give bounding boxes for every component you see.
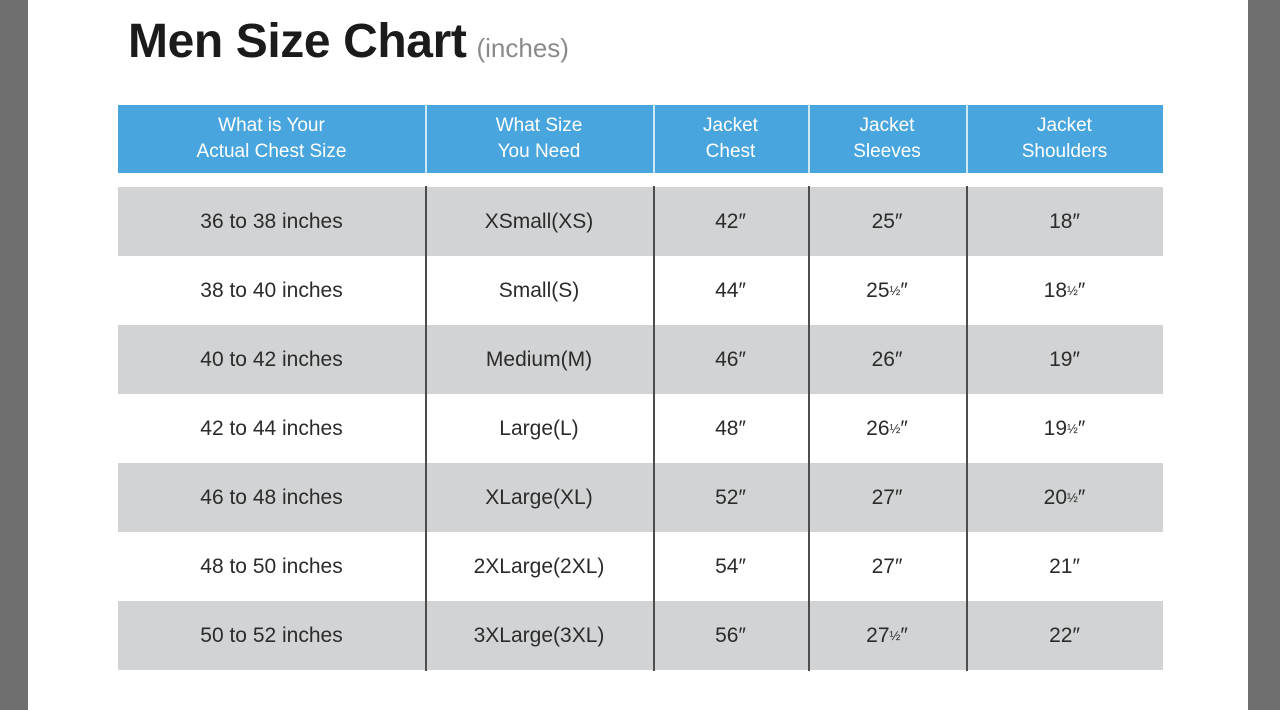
cell-jacket-chest: 48″: [653, 394, 808, 463]
cell-actual-chest-size: 40 to 42 inches: [118, 325, 425, 394]
inch-mark-glyph: ″: [900, 417, 907, 441]
inch-mark-glyph: ″: [738, 210, 745, 234]
inch-mark-glyph: ″: [738, 486, 745, 510]
cell-size-you-need: Medium(M): [425, 325, 653, 394]
inch-mark-glyph: ″: [738, 624, 745, 648]
cell-jacket-chest: 56″: [653, 601, 808, 670]
half-fraction-glyph: ½: [890, 421, 901, 436]
cell-actual-chest-size: 48 to 50 inches: [118, 532, 425, 601]
column-header-line1: Jacket: [860, 113, 915, 139]
cell-actual-chest-size: 46 to 48 inches: [118, 463, 425, 532]
cell-jacket-chest: 46″: [653, 325, 808, 394]
inch-mark-glyph: ″: [895, 555, 902, 579]
cell-jacket-sleeves: 27″: [808, 463, 966, 532]
half-fraction-glyph: ½: [1067, 490, 1078, 505]
inch-mark-glyph: ″: [738, 417, 745, 441]
column-header-line2: Actual Chest Size: [197, 139, 347, 165]
cell-size-you-need: XSmall(XS): [425, 187, 653, 256]
cell-size-you-need: Large(L): [425, 394, 653, 463]
size-chart-table: What is YourActual Chest SizeWhat SizeYo…: [118, 105, 1163, 670]
column-header-jacket-sleeves: JacketSleeves: [808, 105, 966, 173]
cell-jacket-chest: 42″: [653, 187, 808, 256]
column-header-line1: What Size: [496, 113, 583, 139]
half-fraction-glyph: ½: [1067, 283, 1078, 298]
cell-jacket-shoulders: 20½″: [966, 463, 1163, 532]
column-header-size-you-need: What SizeYou Need: [425, 105, 653, 173]
inch-mark-glyph: ″: [738, 279, 745, 303]
column-header-line2: Shoulders: [1022, 139, 1108, 165]
page-title: Men Size Chart (inches): [128, 18, 569, 66]
inch-mark-glyph: ″: [1078, 279, 1085, 303]
table-row: 42 to 44 inchesLarge(L)48″26½″19½″: [118, 394, 1163, 463]
size-chart-page: Men Size Chart (inches) What is YourActu…: [28, 0, 1248, 710]
cell-size-you-need: 3XLarge(3XL): [425, 601, 653, 670]
column-header-jacket-chest: JacketChest: [653, 105, 808, 173]
table-row: 40 to 42 inchesMedium(M)46″26″19″: [118, 325, 1163, 394]
half-fraction-glyph: ½: [890, 283, 901, 298]
cell-actual-chest-size: 38 to 40 inches: [118, 256, 425, 325]
inch-mark-glyph: ″: [1078, 417, 1085, 441]
inch-mark-glyph: ″: [1078, 486, 1085, 510]
column-header-line1: What is Your: [218, 113, 325, 139]
cell-actual-chest-size: 50 to 52 inches: [118, 601, 425, 670]
cell-size-you-need: Small(S): [425, 256, 653, 325]
inch-mark-glyph: ″: [895, 486, 902, 510]
half-fraction-glyph: ½: [1067, 421, 1078, 436]
cell-jacket-shoulders: 18″: [966, 187, 1163, 256]
inch-mark-glyph: ″: [900, 279, 907, 303]
cell-jacket-chest: 52″: [653, 463, 808, 532]
cell-size-you-need: 2XLarge(2XL): [425, 532, 653, 601]
cell-jacket-shoulders: 19½″: [966, 394, 1163, 463]
cell-jacket-sleeves: 27½″: [808, 601, 966, 670]
page-title-unit: (inches): [476, 35, 568, 61]
cell-jacket-chest: 44″: [653, 256, 808, 325]
right-edge-band: [1248, 0, 1280, 710]
inch-mark-glyph: ″: [895, 348, 902, 372]
column-header-actual-chest-size: What is YourActual Chest Size: [118, 105, 425, 173]
table-row: 38 to 40 inchesSmall(S)44″25½″18½″: [118, 256, 1163, 325]
cell-actual-chest-size: 42 to 44 inches: [118, 394, 425, 463]
half-fraction-glyph: ½: [890, 628, 901, 643]
column-header-jacket-shoulders: JacketShoulders: [966, 105, 1163, 173]
table-row: 50 to 52 inches3XLarge(3XL)56″27½″22″: [118, 601, 1163, 670]
column-header-line1: Jacket: [1037, 113, 1092, 139]
cell-jacket-shoulders: 18½″: [966, 256, 1163, 325]
cell-jacket-sleeves: 26″: [808, 325, 966, 394]
inch-mark-glyph: ″: [738, 555, 745, 579]
cell-jacket-sleeves: 27″: [808, 532, 966, 601]
column-header-line2: You Need: [498, 139, 581, 165]
column-header-line1: Jacket: [703, 113, 758, 139]
table-row: 48 to 50 inches2XLarge(2XL)54″27″21″: [118, 532, 1163, 601]
column-header-line2: Sleeves: [853, 139, 921, 165]
inch-mark-glyph: ″: [895, 210, 902, 234]
inch-mark-glyph: ″: [1072, 624, 1079, 648]
cell-actual-chest-size: 36 to 38 inches: [118, 187, 425, 256]
column-header-line2: Chest: [706, 139, 756, 165]
cell-jacket-shoulders: 22″: [966, 601, 1163, 670]
cell-jacket-shoulders: 21″: [966, 532, 1163, 601]
inch-mark-glyph: ″: [1072, 210, 1079, 234]
inch-mark-glyph: ″: [738, 348, 745, 372]
table-body: 36 to 38 inchesXSmall(XS)42″25″18″38 to …: [118, 187, 1163, 670]
page-title-main: Men Size Chart: [128, 18, 466, 66]
left-edge-band: [0, 0, 28, 710]
inch-mark-glyph: ″: [1072, 348, 1079, 372]
cell-jacket-sleeves: 25½″: [808, 256, 966, 325]
header-spacer: [118, 173, 1163, 187]
cell-jacket-sleeves: 26½″: [808, 394, 966, 463]
table-row: 36 to 38 inchesXSmall(XS)42″25″18″: [118, 187, 1163, 256]
table-header-row: What is YourActual Chest SizeWhat SizeYo…: [118, 105, 1163, 173]
cell-jacket-sleeves: 25″: [808, 187, 966, 256]
cell-size-you-need: XLarge(XL): [425, 463, 653, 532]
cell-jacket-shoulders: 19″: [966, 325, 1163, 394]
cell-jacket-chest: 54″: [653, 532, 808, 601]
table-row: 46 to 48 inchesXLarge(XL)52″27″20½″: [118, 463, 1163, 532]
inch-mark-glyph: ″: [1072, 555, 1079, 579]
inch-mark-glyph: ″: [900, 624, 907, 648]
